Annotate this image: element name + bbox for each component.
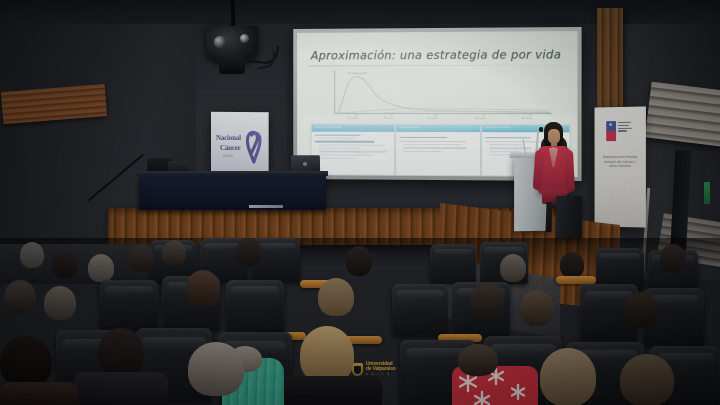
rollup-banner-right: ★ Departamento Manejo Integral del Cánce…	[595, 106, 646, 227]
slide-box-header-label: Niñas y adolescentes	[312, 125, 395, 129]
rollup-banner-left: Nacional Cáncer CHILE	[211, 112, 269, 180]
spotlight-lens-icon	[240, 34, 249, 43]
wood-slat-panel-right	[645, 82, 720, 147]
slide-box-body	[312, 132, 395, 164]
chart-tick-label: 45 años	[475, 117, 485, 120]
seat	[430, 244, 476, 284]
exit-sign	[704, 182, 710, 204]
seat	[226, 280, 284, 332]
slide-content-box: Mujeres adultas	[395, 124, 481, 176]
slide-box-header-label: Mujeres adultas	[396, 125, 480, 129]
audience-head	[44, 286, 76, 320]
banner-right-shading	[595, 106, 646, 227]
audience-head	[318, 278, 354, 316]
audience-head	[236, 238, 262, 266]
audience-head	[470, 282, 504, 318]
audience	[0, 236, 720, 405]
rig-housing	[219, 58, 245, 74]
projector-lens-icon	[214, 36, 226, 48]
audience-head	[458, 344, 498, 376]
audience-head	[624, 292, 658, 328]
chart-tick-label: 25 años	[383, 117, 393, 120]
audience-head	[0, 336, 52, 388]
wood-slat-panel-vertical	[597, 8, 623, 112]
chart-tick	[391, 113, 392, 116]
audience-shoulders	[0, 382, 78, 405]
seat	[392, 284, 448, 336]
audience-head	[88, 254, 114, 282]
audience-head	[660, 244, 686, 272]
banner-left-shading	[211, 112, 269, 180]
slide-content-box: Niñas y adolescentes	[311, 124, 395, 176]
loudspeaker	[556, 196, 582, 238]
audience-head	[52, 250, 78, 278]
slide-title: Aproximación: una estrategia de por vida	[311, 47, 561, 62]
audience-head	[346, 246, 372, 276]
audience-head	[500, 254, 526, 282]
paper-on-table	[249, 205, 283, 208]
audience-head	[560, 252, 584, 278]
audience-shoulders	[74, 372, 168, 405]
slide-title-underline	[309, 65, 571, 67]
chart-curves	[324, 70, 556, 119]
seat-armrest	[556, 276, 596, 284]
slide-box-body	[396, 132, 480, 157]
chart-legend: Prevalencia VPH	[348, 72, 367, 75]
chart-tick	[530, 113, 531, 116]
audience-head	[20, 242, 44, 268]
chart-tick-label: 15 años	[348, 117, 358, 120]
audience-head	[520, 290, 554, 326]
audience-head	[186, 270, 220, 306]
audience-head	[4, 280, 36, 314]
audience-head	[540, 348, 596, 405]
audience-head	[128, 244, 154, 272]
audience-shoulders	[278, 376, 382, 405]
chart-tick	[435, 113, 436, 116]
presenter-arm-right	[564, 150, 575, 192]
auditorium-photo: Aproximación: una estrategia de por vida…	[0, 0, 720, 405]
chart-tick-label: 35 años	[427, 117, 437, 120]
chart-tick	[483, 113, 484, 116]
audience-head	[188, 342, 244, 396]
chart-tick-label: 55 años	[521, 117, 531, 120]
head-table-skirt: Universidad de Valparaíso C H I L E	[139, 175, 326, 210]
audience-head	[98, 328, 144, 378]
audience-head	[162, 240, 186, 266]
presenter-leg-left	[545, 202, 552, 232]
slide-chart: Prevalencia VPH 15 años 25 años 35 años …	[324, 70, 556, 119]
audience-head	[620, 354, 674, 405]
chart-tick	[356, 113, 357, 116]
seat	[100, 280, 158, 332]
